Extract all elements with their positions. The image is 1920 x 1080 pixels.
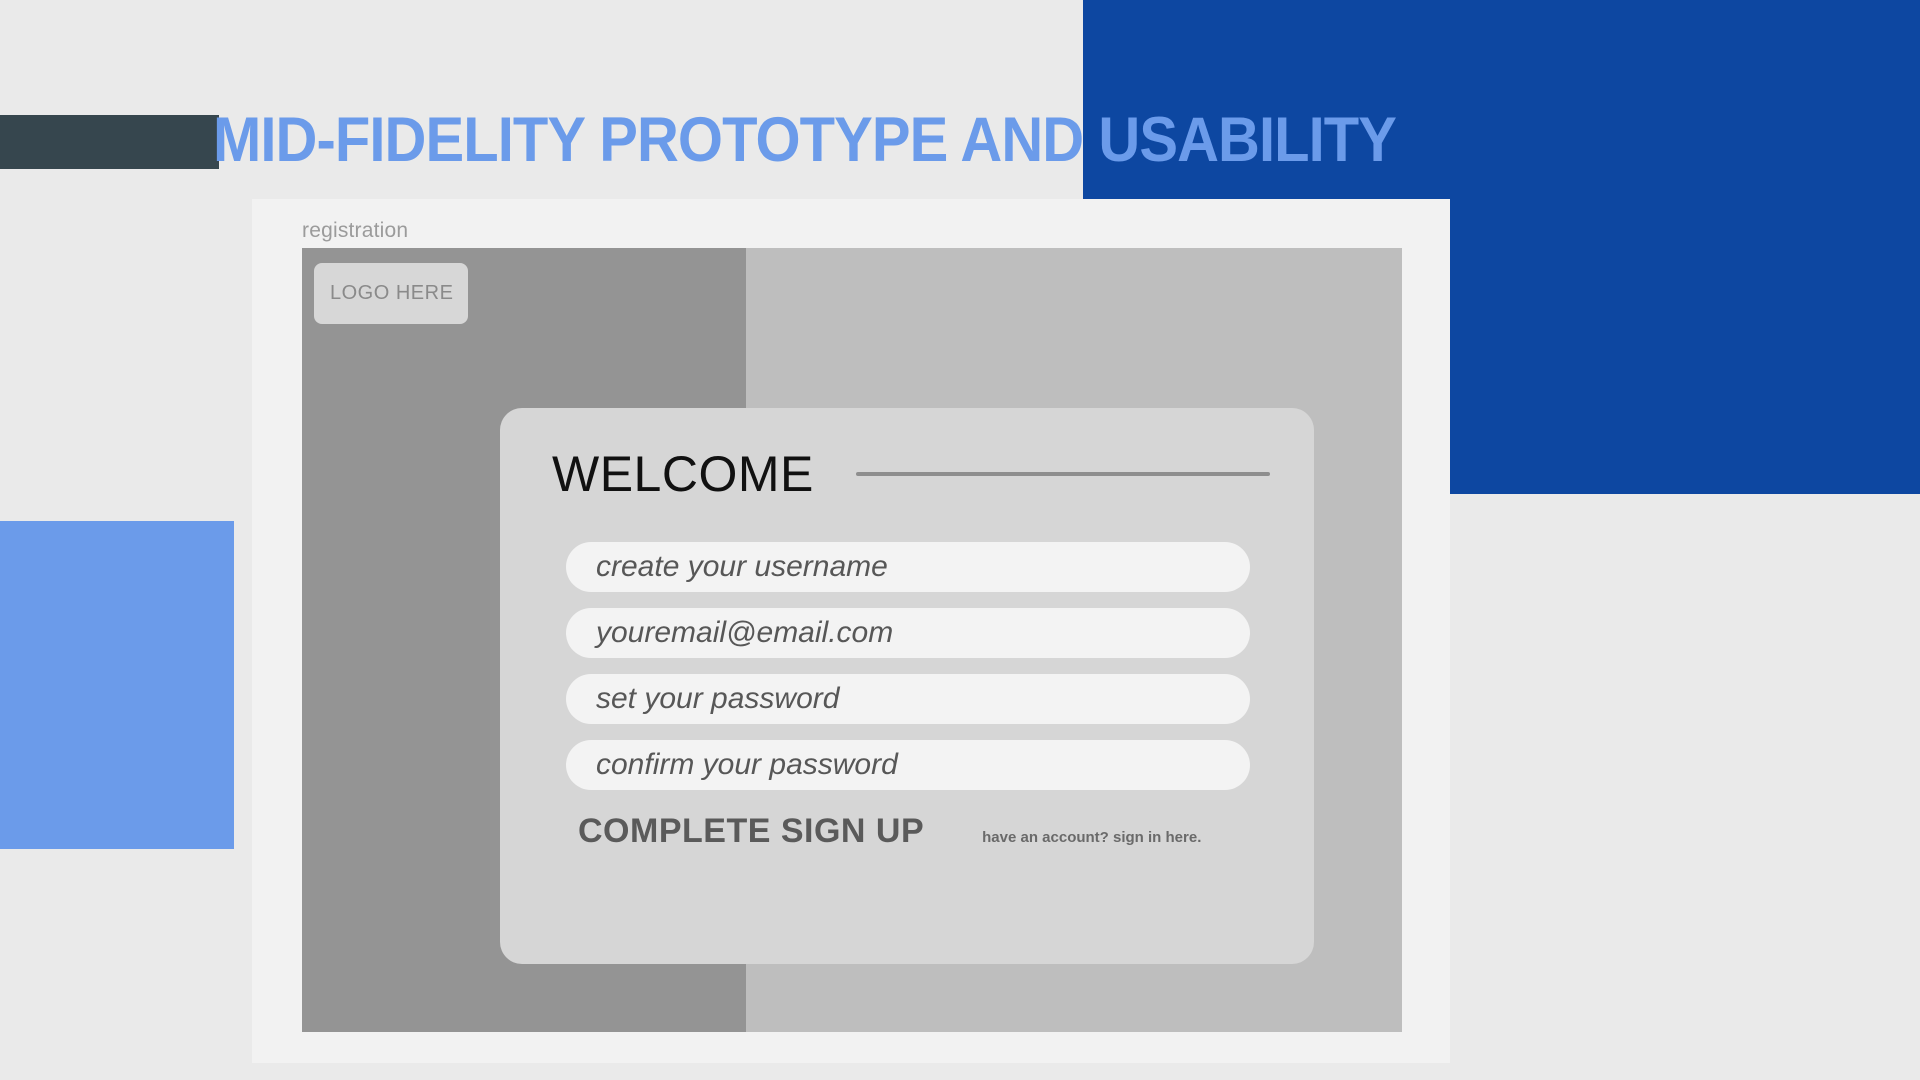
wireframe-screen: LOGO HERE WELCOME create your username y… <box>302 248 1402 1032</box>
form-fields: create your username youremail@email.com… <box>566 542 1250 806</box>
logo-placeholder-label: LOGO HERE <box>330 282 453 305</box>
form-actions: COMPLETE SIGN UP have an account? sign i… <box>578 812 1258 851</box>
mockup-screen-label: registration <box>302 219 408 243</box>
logo-placeholder-box: LOGO HERE <box>314 263 468 324</box>
slide-title: MID-FIDELITY PROTOTYPE AND USABILITY <box>213 105 1396 175</box>
username-input-placeholder: create your username <box>566 550 888 584</box>
decorative-light-blue-square <box>0 521 234 849</box>
email-input-placeholder: youremail@email.com <box>566 616 893 650</box>
sign-in-link[interactable]: have an account? sign in here. <box>982 829 1201 846</box>
mockup-card: registration LOGO HERE WELCOME create yo… <box>252 199 1450 1063</box>
welcome-heading: WELCOME <box>552 445 814 503</box>
welcome-heading-row: WELCOME <box>552 445 1270 503</box>
decorative-slate-bar <box>0 115 219 169</box>
complete-sign-up-button[interactable]: COMPLETE SIGN UP <box>578 812 924 851</box>
confirm-password-input[interactable]: confirm your password <box>566 740 1250 790</box>
heading-divider-line <box>856 472 1270 476</box>
password-input[interactable]: set your password <box>566 674 1250 724</box>
registration-form-card: WELCOME create your username youremail@e… <box>500 408 1314 964</box>
confirm-password-input-placeholder: confirm your password <box>566 748 898 782</box>
slide-canvas: MID-FIDELITY PROTOTYPE AND USABILITY reg… <box>0 0 1920 1080</box>
email-input[interactable]: youremail@email.com <box>566 608 1250 658</box>
username-input[interactable]: create your username <box>566 542 1250 592</box>
password-input-placeholder: set your password <box>566 682 839 716</box>
